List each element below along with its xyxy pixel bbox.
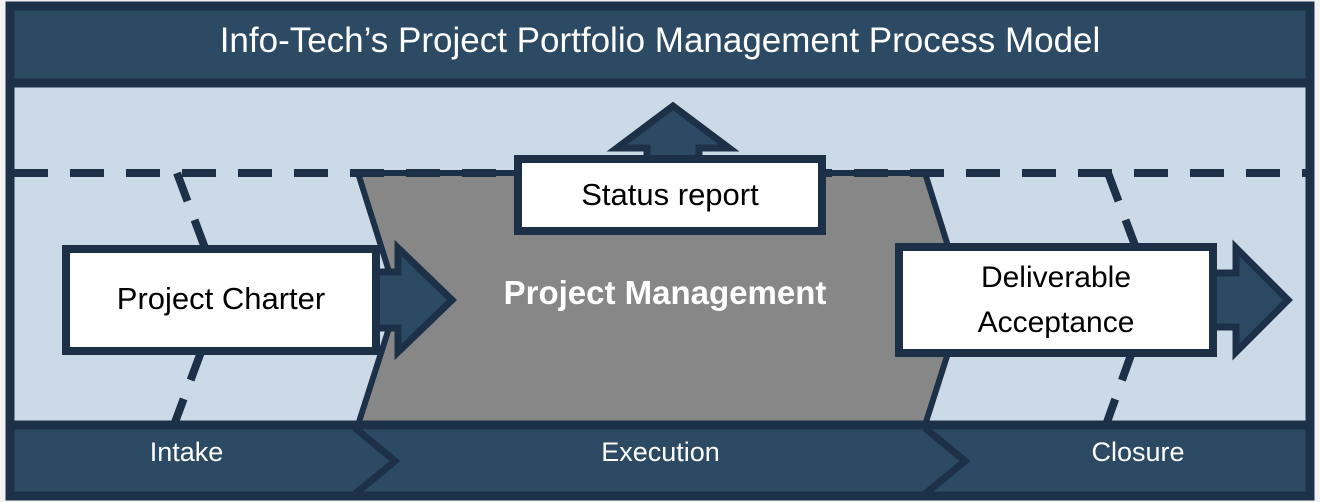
page-title: Info-Tech’s Project Portfolio Management…	[10, 14, 1310, 68]
deliverable-acceptance-label-line1: Deliverable	[904, 255, 1208, 300]
process-chevron-label: Project Management	[430, 274, 900, 312]
process-model-graphic	[0, 0, 1320, 502]
deliverable-acceptance-label: Deliverable Acceptance	[904, 255, 1208, 345]
project-charter-label: Project Charter	[72, 281, 370, 317]
diagram-canvas: Info-Tech’s Project Portfolio Management…	[0, 0, 1320, 502]
phase-label-intake: Intake	[14, 437, 359, 468]
phase-label-execution: Execution	[398, 437, 923, 468]
status-report-label: Status report	[522, 177, 818, 213]
phase-label-closure: Closure	[968, 437, 1308, 468]
deliverable-acceptance-label-line2: Acceptance	[904, 300, 1208, 345]
